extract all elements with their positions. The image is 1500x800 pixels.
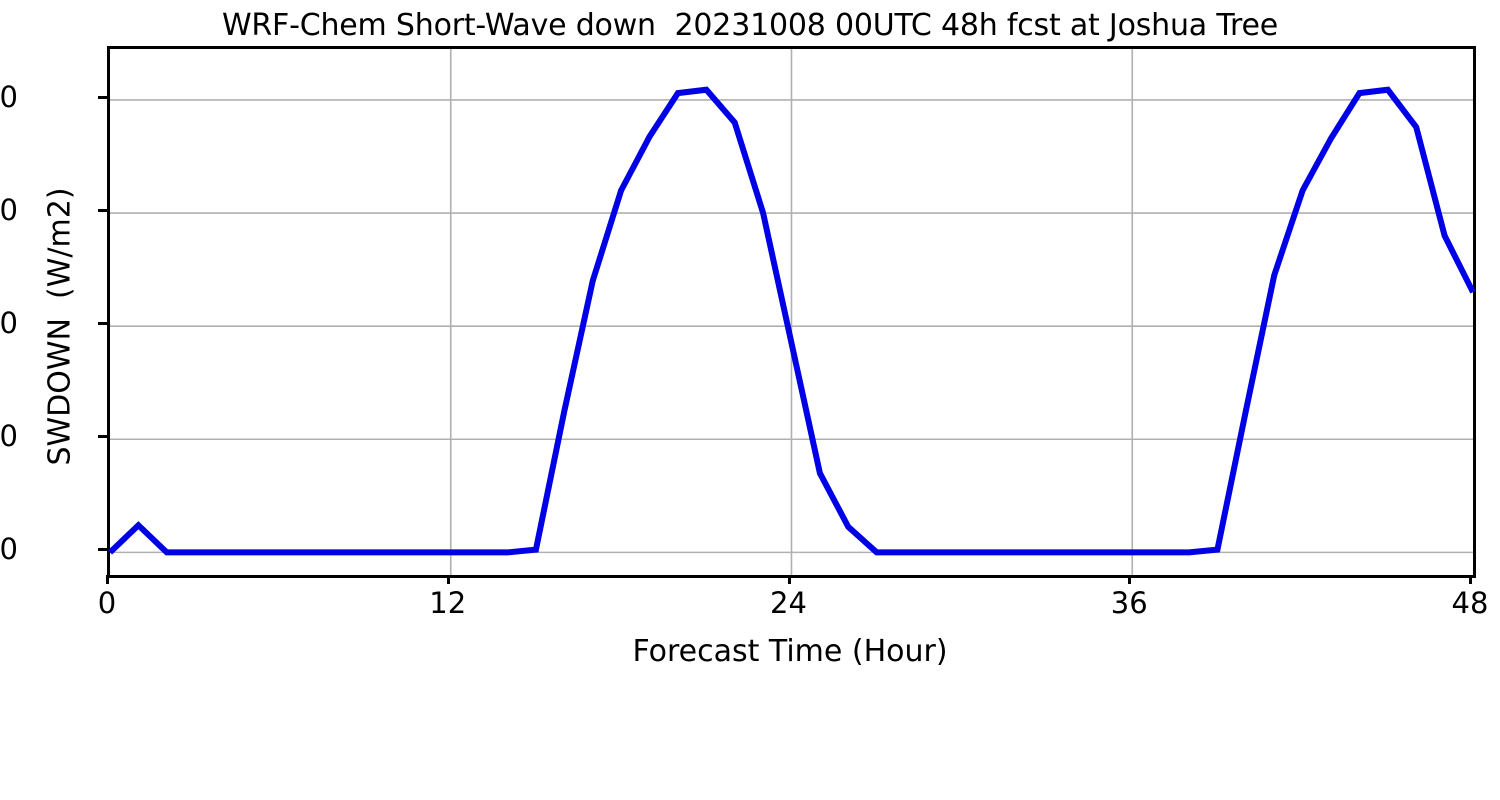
x-tick-label: 36: [1111, 586, 1148, 620]
y-tick-mark: [98, 435, 107, 438]
y-tick-mark: [98, 548, 107, 551]
data-line-swdown: [110, 49, 1473, 575]
y-axis-label: SWDOWN (W/m2): [43, 62, 78, 592]
x-tick-label: 0: [98, 586, 116, 620]
x-tick-label: 24: [770, 586, 807, 620]
x-tick-label: 12: [429, 586, 466, 620]
y-tick-label: 200: [0, 419, 18, 453]
plot-area: [107, 46, 1476, 578]
x-tick-label: 48: [1452, 586, 1489, 620]
chart-title: WRF-Chem Short-Wave down 20231008 00UTC …: [0, 8, 1500, 43]
y-tick-label: 400: [0, 306, 18, 340]
y-tick-mark: [98, 209, 107, 212]
chart-figure: WRF-Chem Short-Wave down 20231008 00UTC …: [0, 0, 1500, 800]
y-tick-mark: [98, 322, 107, 325]
x-axis-label: Forecast Time (Hour): [107, 634, 1473, 669]
y-tick-label: 600: [0, 193, 18, 227]
plot-inner: [110, 49, 1473, 575]
y-tick-label: 0: [0, 532, 18, 566]
y-tick-label: 800: [0, 80, 18, 114]
y-tick-mark: [98, 96, 107, 99]
